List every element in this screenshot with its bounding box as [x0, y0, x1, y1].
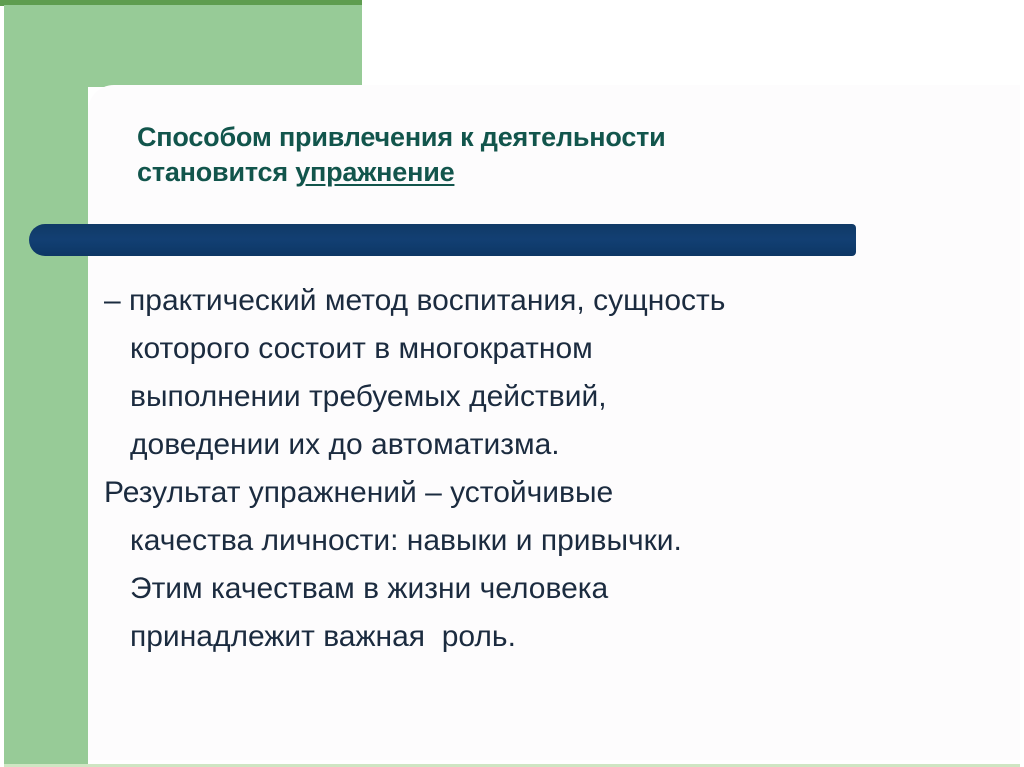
- slide-title: Способом привлечения к деятельности стан…: [137, 120, 877, 190]
- navy-rule-bar: [29, 224, 856, 256]
- body-paragraph: Результат упражнений – устойчивые качест…: [104, 469, 984, 661]
- body-paragraph: – практический метод воспитания, сущност…: [104, 277, 984, 469]
- slide-title-emphasis-term: упражнение: [295, 157, 454, 187]
- slide-title-line-2-prefix: становится: [137, 157, 295, 187]
- slide-title-line-1: Способом привлечения к деятельности: [137, 120, 877, 155]
- slide-body: – практический метод воспитания, сущност…: [104, 277, 984, 661]
- slide-title-line-2: становится упражнение: [137, 155, 877, 190]
- presentation-slide: Способом привлечения к деятельности стан…: [0, 0, 1024, 767]
- green-left-sidebar-band: [4, 5, 88, 764]
